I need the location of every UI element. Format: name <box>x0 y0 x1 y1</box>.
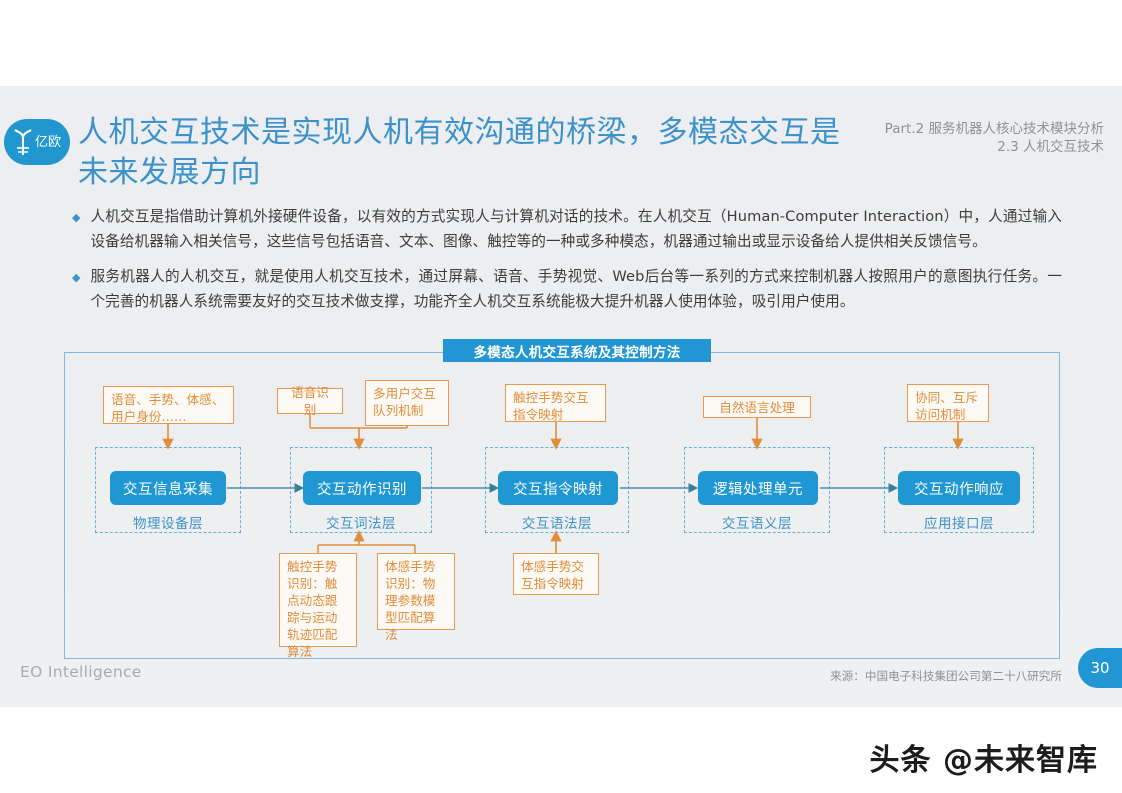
bullet-text: 服务机器人的人机交互，就是使用人机交互技术，通过屏幕、语音、手势视觉、Web后台… <box>90 265 1062 314</box>
process-box-command-mapping[interactable]: 交互指令映射 <box>498 471 618 505</box>
bullet-item: ◆ 人机交互是指借助计算机外接硬件设备，以有效的方式实现人与计算机对话的技术。在… <box>72 205 1062 254</box>
touch-gesture-mapping-note[interactable]: 触控手势交互指令映射 <box>505 384 606 422</box>
process-box-action-recognition[interactable]: 交互动作识别 <box>303 471 421 505</box>
tree-logo-icon <box>13 129 33 155</box>
section-label: 2.3 人机交互技术 <box>885 138 1104 156</box>
layer-label-application: 应用接口层 <box>884 512 1034 532</box>
header-section-info: Part.2 服务机器人核心技术模块分析 2.3 人机交互技术 <box>885 120 1104 156</box>
watermark: 头条 @未来智库 <box>870 735 1098 779</box>
diagram-title-banner: 多模态人机交互系统及其控制方法 <box>443 339 711 362</box>
brand-logo: 亿欧 <box>4 119 70 165</box>
footer-brand: EO Intelligence <box>20 663 142 681</box>
coordination-mutex-note[interactable]: 协同、互斥访问机制 <box>907 384 989 422</box>
speech-recognition-note[interactable]: 语音识别 <box>277 388 343 414</box>
layer-label-lexical: 交互词法层 <box>290 512 432 532</box>
multiuser-queue-note[interactable]: 多用户交互队列机制 <box>365 380 449 426</box>
page-number-badge: 30 <box>1078 648 1122 688</box>
touch-gesture-recognition-note[interactable]: 触控手势识别：触点动态跟踪与运动轨迹匹配算法 <box>279 553 357 647</box>
process-box-collection[interactable]: 交互信息采集 <box>110 471 226 505</box>
part-label: Part.2 服务机器人核心技术模块分析 <box>885 120 1104 138</box>
somatosensory-gesture-recognition-note[interactable]: 体感手势识别：物理参数模型匹配算法 <box>377 553 455 630</box>
nlp-note[interactable]: 自然语言处理 <box>703 396 811 418</box>
page-title: 人机交互技术是实现人机有效沟通的桥梁，多模态交互是未来发展方向 <box>78 113 868 193</box>
bullet-text: 人机交互是指借助计算机外接硬件设备，以有效的方式实现人与计算机对话的技术。在人机… <box>90 205 1062 254</box>
diamond-bullet-icon: ◆ <box>72 266 80 315</box>
layer-label-semantic: 交互语义层 <box>684 512 830 532</box>
bullet-list: ◆ 人机交互是指借助计算机外接硬件设备，以有效的方式实现人与计算机对话的技术。在… <box>72 205 1062 325</box>
diamond-bullet-icon: ◆ <box>72 206 80 255</box>
somatosensory-gesture-mapping-note[interactable]: 体感手势交互指令映射 <box>513 553 599 595</box>
layer-label-physical-device: 物理设备层 <box>95 512 241 532</box>
logo-wordmark: 亿欧 <box>35 136 61 149</box>
bullet-item: ◆ 服务机器人的人机交互，就是使用人机交互技术，通过屏幕、语音、手势视觉、Web… <box>72 265 1062 314</box>
process-box-action-response[interactable]: 交互动作响应 <box>898 471 1020 505</box>
input-modalities-note[interactable]: 语音、手势、体感、用户身份…… <box>103 386 234 424</box>
footer-source: 来源：中国电子科技集团公司第二十八研究所 <box>830 668 1062 684</box>
process-box-logic-unit[interactable]: 逻辑处理单元 <box>698 471 818 505</box>
layer-label-syntax: 交互语法层 <box>485 512 629 532</box>
